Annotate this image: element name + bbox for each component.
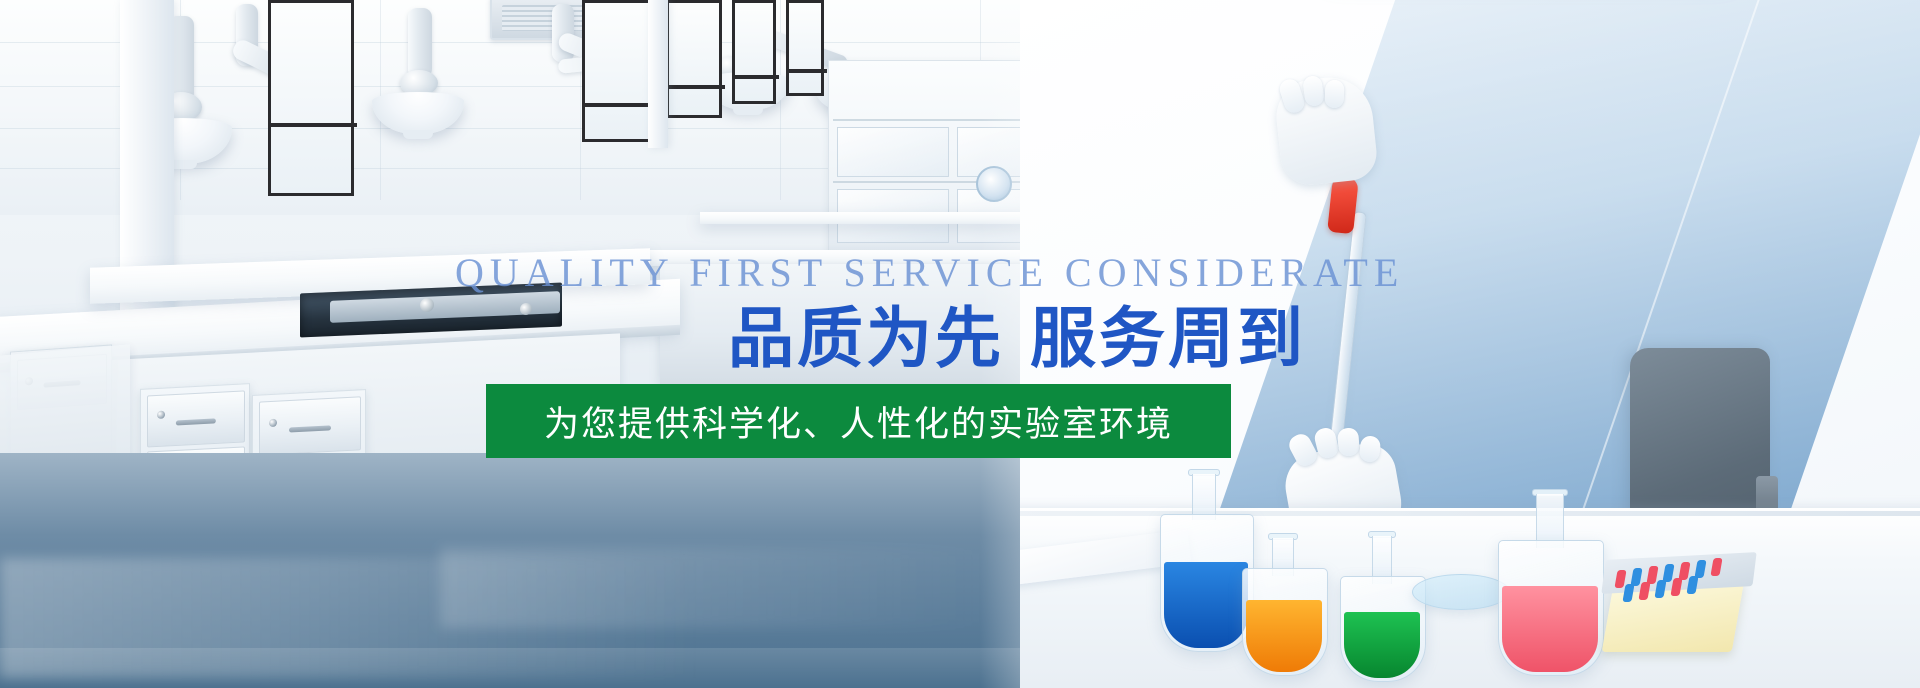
subtitle-text: 为您提供科学化、人性化的实验室环境	[544, 396, 1173, 447]
subtitle-green-banner: 为您提供科学化、人性化的实验室环境	[486, 384, 1231, 458]
eyebrow-english-text: QUALITY FIRST SERVICE CONSIDERATE	[455, 249, 1404, 296]
headline-chinese: 品质为先 服务周到	[728, 306, 1306, 372]
text-overlay: QUALITY FIRST SERVICE CONSIDERATE 品质为先 服…	[0, 0, 1920, 688]
hero-banner: QUALITY FIRST SERVICE CONSIDERATE 品质为先 服…	[0, 0, 1920, 688]
